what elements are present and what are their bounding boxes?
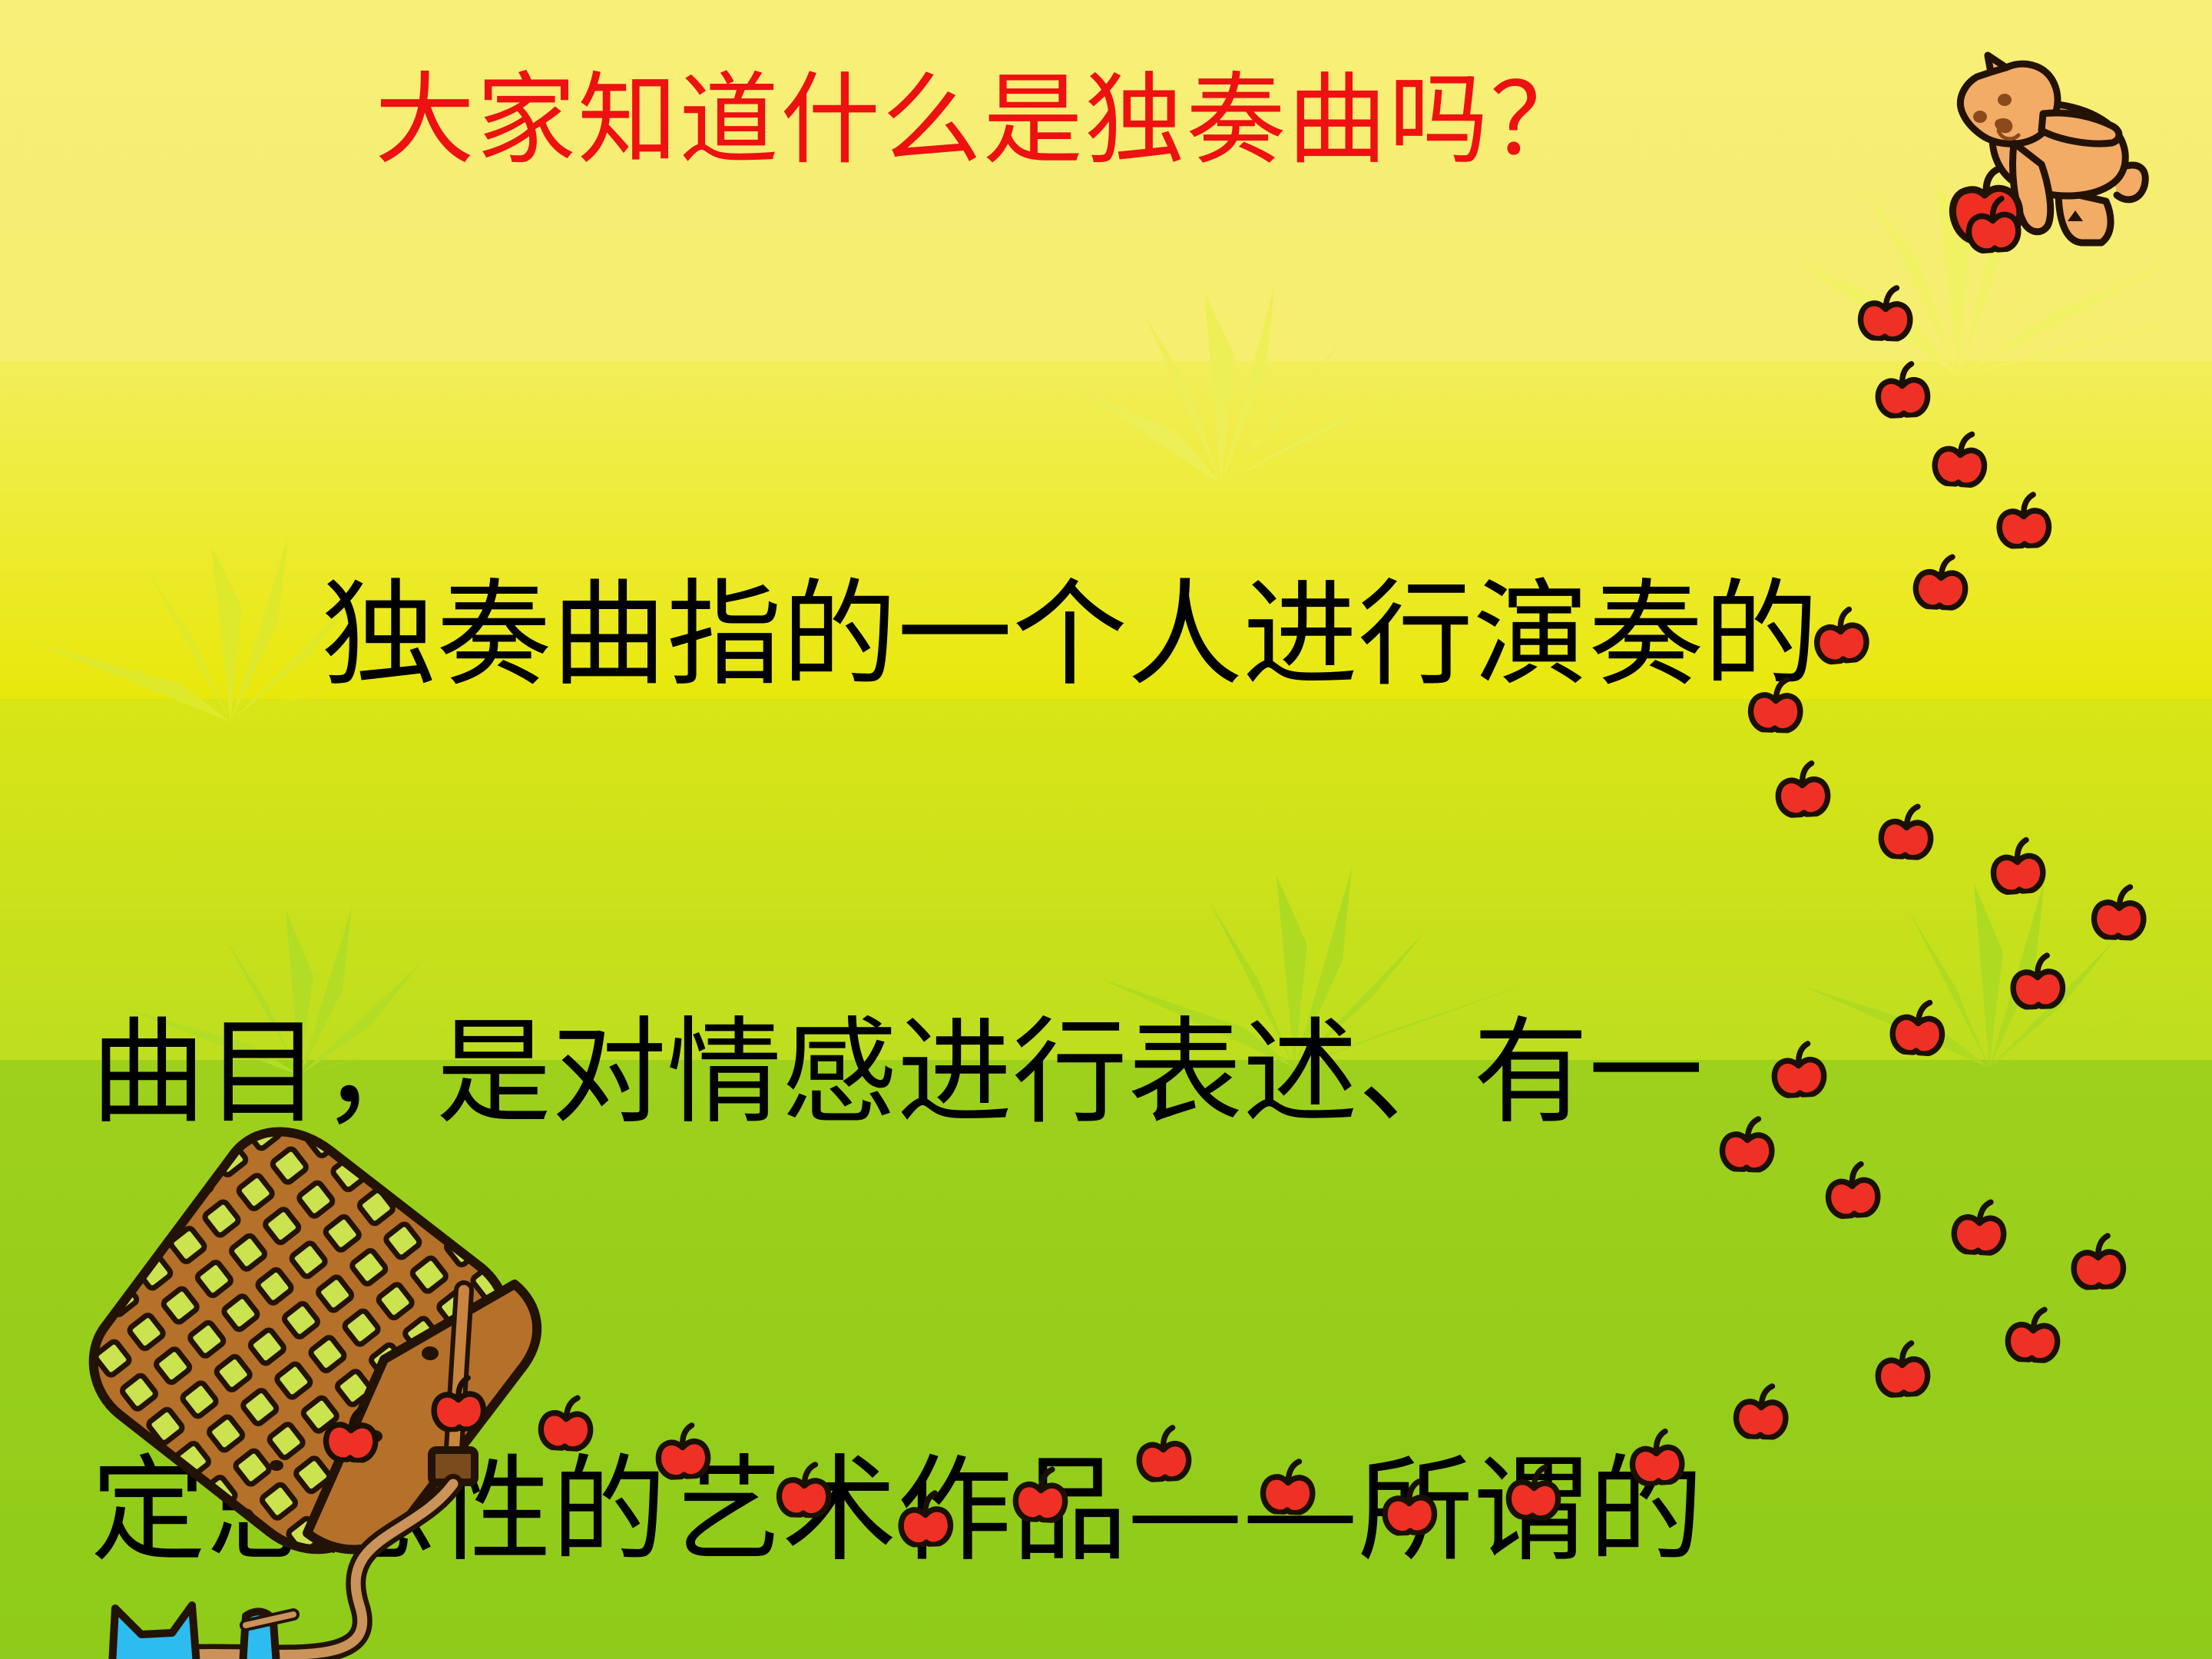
apple-icon bbox=[1856, 283, 1916, 343]
slide-title: 大家知道什么是独奏曲吗？ bbox=[0, 68, 1966, 173]
body-line: 曲目，是对情感进行表述、有一 bbox=[91, 1000, 1949, 1146]
apple-icon bbox=[1876, 801, 1936, 861]
apple-icon bbox=[653, 1421, 713, 1481]
apple-icon bbox=[1134, 1423, 1194, 1483]
apple-icon bbox=[1747, 675, 1806, 734]
apple-icon bbox=[2069, 1232, 2128, 1291]
body-line: 独奏曲指的一个人进行演奏的 bbox=[91, 562, 1949, 708]
apple-icon bbox=[1823, 1160, 1883, 1220]
apple-icon bbox=[1930, 429, 1991, 489]
apple-icon bbox=[1988, 836, 2048, 896]
apple-icon bbox=[1963, 194, 2024, 255]
apple-icon bbox=[429, 1374, 488, 1433]
apple-icon bbox=[1504, 1462, 1564, 1522]
slide-canvas: 大家知道什么是独奏曲吗？ 独奏曲指的一个人进行演奏的 曲目，是对情感进行表述、有… bbox=[0, 0, 2212, 1659]
apple-icon bbox=[1627, 1427, 1687, 1488]
apple-icon bbox=[1732, 1382, 1791, 1441]
apple-icon bbox=[1888, 997, 1949, 1058]
apple-icon bbox=[1911, 551, 1971, 611]
apple-icon bbox=[322, 1405, 381, 1464]
apple-icon bbox=[1995, 491, 2054, 550]
apple-icon bbox=[1011, 1464, 1071, 1524]
apple-icon bbox=[1873, 1339, 1932, 1399]
apple-icon bbox=[775, 1460, 834, 1519]
apple-icon bbox=[1949, 1197, 2009, 1257]
apple-icon bbox=[2003, 1304, 2063, 1364]
apple-icon bbox=[536, 1392, 596, 1452]
apple-icon bbox=[1380, 1478, 1439, 1537]
apple-icon bbox=[1718, 1114, 1777, 1174]
apple-icon bbox=[1773, 759, 1833, 819]
apple-icon bbox=[1259, 1457, 1318, 1516]
apple-icon bbox=[1769, 1039, 1829, 1099]
apple-icon bbox=[2090, 882, 2149, 942]
apple-icon bbox=[1873, 359, 1932, 419]
apple-icon bbox=[2008, 952, 2068, 1011]
apple-icon bbox=[896, 1489, 955, 1548]
apple-icon bbox=[1810, 604, 1872, 666]
